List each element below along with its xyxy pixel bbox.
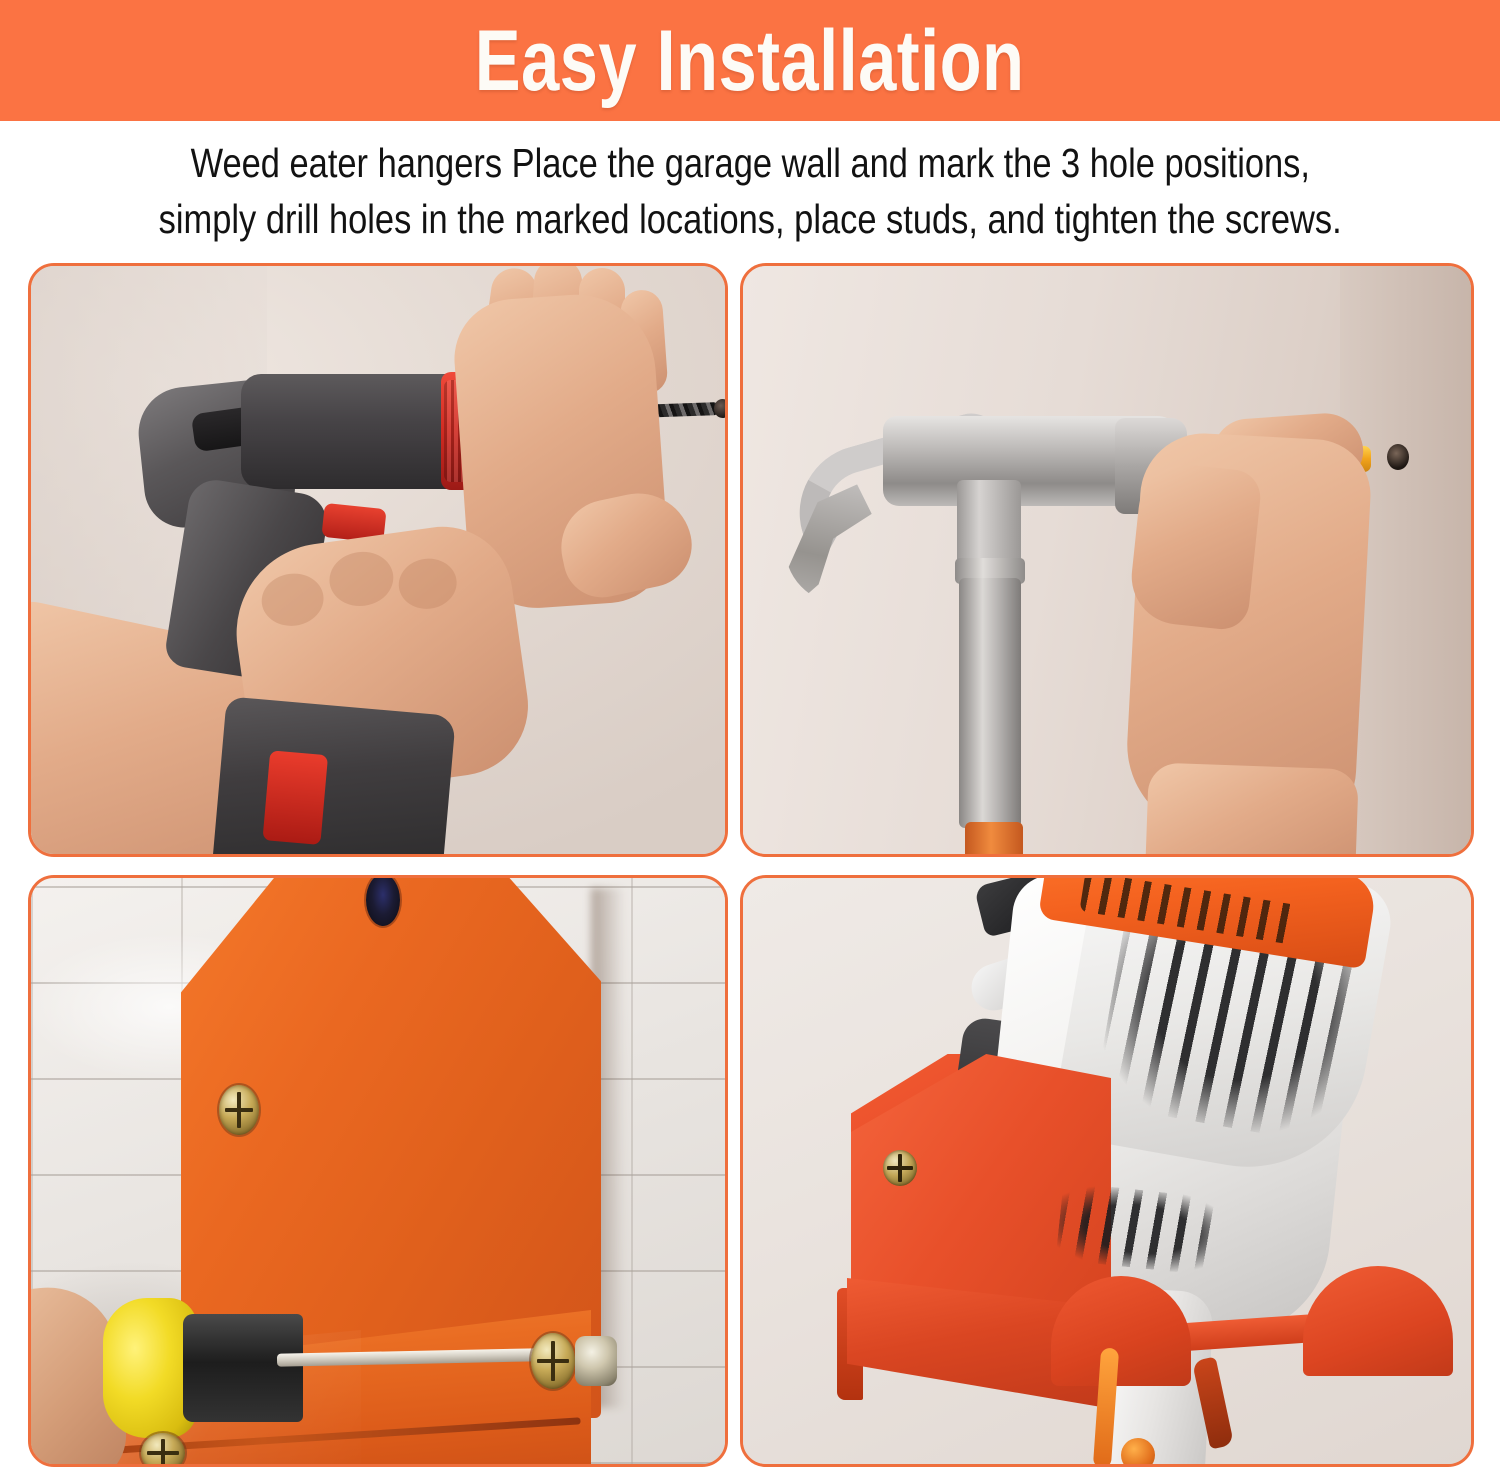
panel-step-hang-trimmer bbox=[740, 875, 1474, 1467]
mounting-screw bbox=[141, 1433, 185, 1467]
bracket-top-hole bbox=[366, 875, 400, 926]
subtitle-line-2: simply drill holes in the marked locatio… bbox=[158, 191, 1341, 247]
screwdriver-collar bbox=[183, 1314, 303, 1422]
scene-tighten-screws bbox=[31, 878, 725, 1464]
battery-pack bbox=[212, 696, 456, 857]
subtitle-line-1: Weed eater hangers Place the garage wall… bbox=[190, 135, 1309, 191]
installation-steps-grid bbox=[28, 263, 1474, 1467]
mounting-screw bbox=[219, 1085, 259, 1135]
wall-hole bbox=[714, 399, 728, 418]
knuckle bbox=[258, 570, 327, 630]
scene-insert-anchor bbox=[743, 266, 1471, 854]
knuckle bbox=[326, 548, 397, 610]
battery-release-button bbox=[262, 750, 328, 845]
panel-step-tighten-screws bbox=[28, 875, 728, 1467]
wall-hole bbox=[1387, 444, 1409, 470]
screw-nut bbox=[575, 1336, 617, 1386]
mounting-screw bbox=[883, 1150, 917, 1186]
mounting-screw bbox=[531, 1333, 575, 1389]
trimmer-knob bbox=[1121, 1438, 1155, 1467]
trimmer-lower-vents bbox=[1055, 1182, 1222, 1276]
subtitle-block: Weed eater hangers Place the garage wall… bbox=[0, 121, 1500, 261]
knuckles bbox=[1127, 460, 1263, 632]
hammer-handle-grip bbox=[965, 822, 1023, 857]
hammer-shaft bbox=[959, 578, 1021, 828]
header-banner: Easy Installation bbox=[0, 0, 1500, 121]
page-title: Easy Installation bbox=[475, 18, 1025, 104]
knuckle bbox=[396, 555, 460, 613]
wrist bbox=[1145, 762, 1359, 857]
panel-step-insert-anchor bbox=[740, 263, 1474, 857]
scene-drill-hole bbox=[31, 266, 725, 854]
scene-hang-trimmer bbox=[743, 878, 1471, 1464]
panel-step-drill-hole bbox=[28, 263, 728, 857]
